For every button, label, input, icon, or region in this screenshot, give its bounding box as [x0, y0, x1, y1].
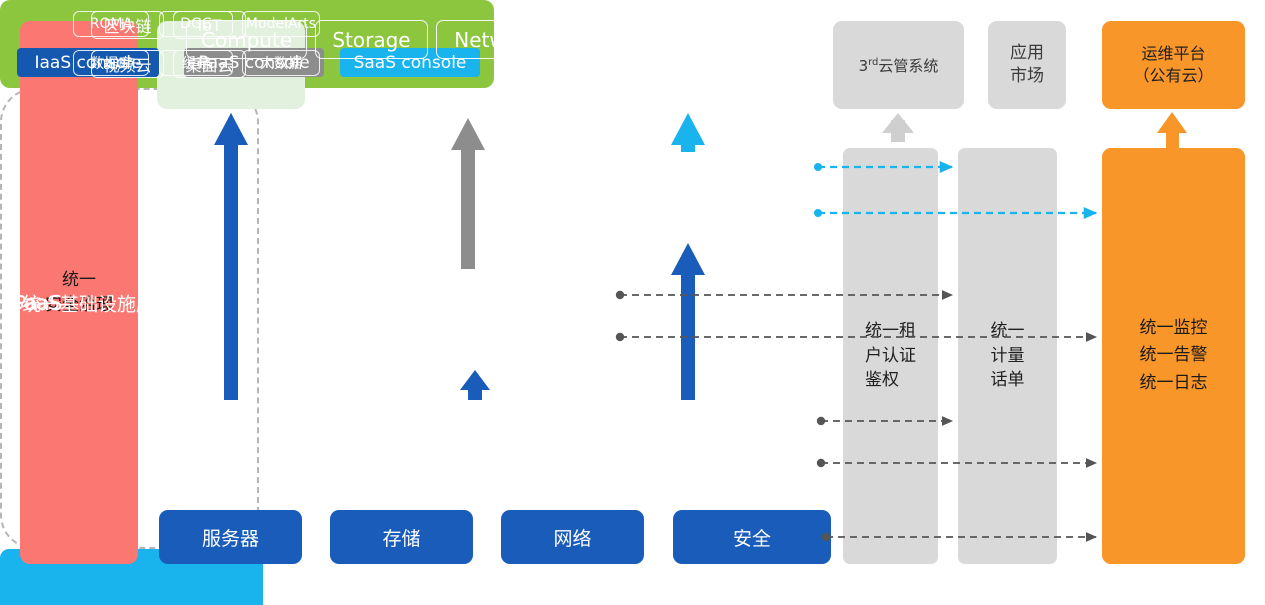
ops-platform-box[interactable]: 运维平台 （公有云）: [1102, 21, 1245, 109]
infra-item-compute[interactable]: Compute: [186, 20, 307, 59]
arrow-shared-to-third-cloud: [882, 113, 914, 142]
auth-line3: 鉴权: [865, 368, 916, 393]
arrow-ops-detail-to-ops-platform: [1157, 112, 1187, 148]
ops-detail-line1: 统一监控: [1140, 315, 1208, 342]
third-cloud-label: 3rd云管系统: [859, 55, 939, 76]
infra-item-network[interactable]: Network: [436, 20, 556, 59]
arrow-infra-to-paas: [460, 370, 490, 400]
infra-item-cce[interactable]: CCE: [564, 20, 664, 59]
arrow-saas-to-saas-console: [671, 113, 705, 152]
hardware-item-server[interactable]: 服务器: [159, 510, 302, 564]
auth-line1: 统一租: [865, 319, 916, 344]
paas-item-database[interactable]: 数据库: [73, 50, 149, 76]
ops-platform-line2: （公有云）: [1133, 65, 1213, 87]
hardware-item-security[interactable]: 安全: [673, 510, 831, 564]
third-cloud-prefix: 3: [859, 57, 869, 75]
ops-monitoring-panel[interactable]: 统一监控 统一告警 统一日志: [1102, 148, 1245, 564]
arrow-infra-to-saas: [671, 243, 705, 400]
unified-metering-billing-column[interactable]: 统一 计量 话单: [958, 148, 1057, 564]
third-cloud-suffix: 云管系统: [878, 57, 938, 75]
arrow-paas-to-console: [451, 118, 485, 269]
infrastructure-label: 统一基础设施服务: [22, 289, 174, 316]
third-cloud-superscript: rd: [868, 57, 878, 68]
hardware-item-storage[interactable]: 存储: [330, 510, 473, 564]
ops-detail-line2: 统一告警: [1140, 342, 1208, 369]
metering-line1: 统一: [991, 319, 1025, 344]
third-party-cloud-management-box[interactable]: 3rd云管系统: [833, 21, 964, 109]
metering-line2: 计量: [991, 344, 1025, 369]
auth-line2: 户认证: [865, 344, 916, 369]
hardware-item-network[interactable]: 网络: [501, 510, 644, 564]
paas-item-roma[interactable]: ROMA: [73, 11, 149, 37]
metering-line3: 话单: [991, 368, 1025, 393]
app-market-line1: 应用: [1010, 42, 1044, 65]
app-market-line2: 市场: [1010, 65, 1044, 88]
unified-tenant-auth-column[interactable]: 统一租 户认证 鉴权: [843, 148, 938, 564]
application-market-box[interactable]: 应用 市场: [988, 21, 1066, 109]
ops-detail-line3: 统一日志: [1140, 370, 1208, 397]
architecture-diagram: 统一 安全治理 API网关 自助服务Console框架 IaaS console…: [0, 0, 1265, 605]
infra-item-storage[interactable]: Storage: [315, 20, 428, 59]
ops-platform-line1: 运维平台: [1133, 43, 1213, 65]
